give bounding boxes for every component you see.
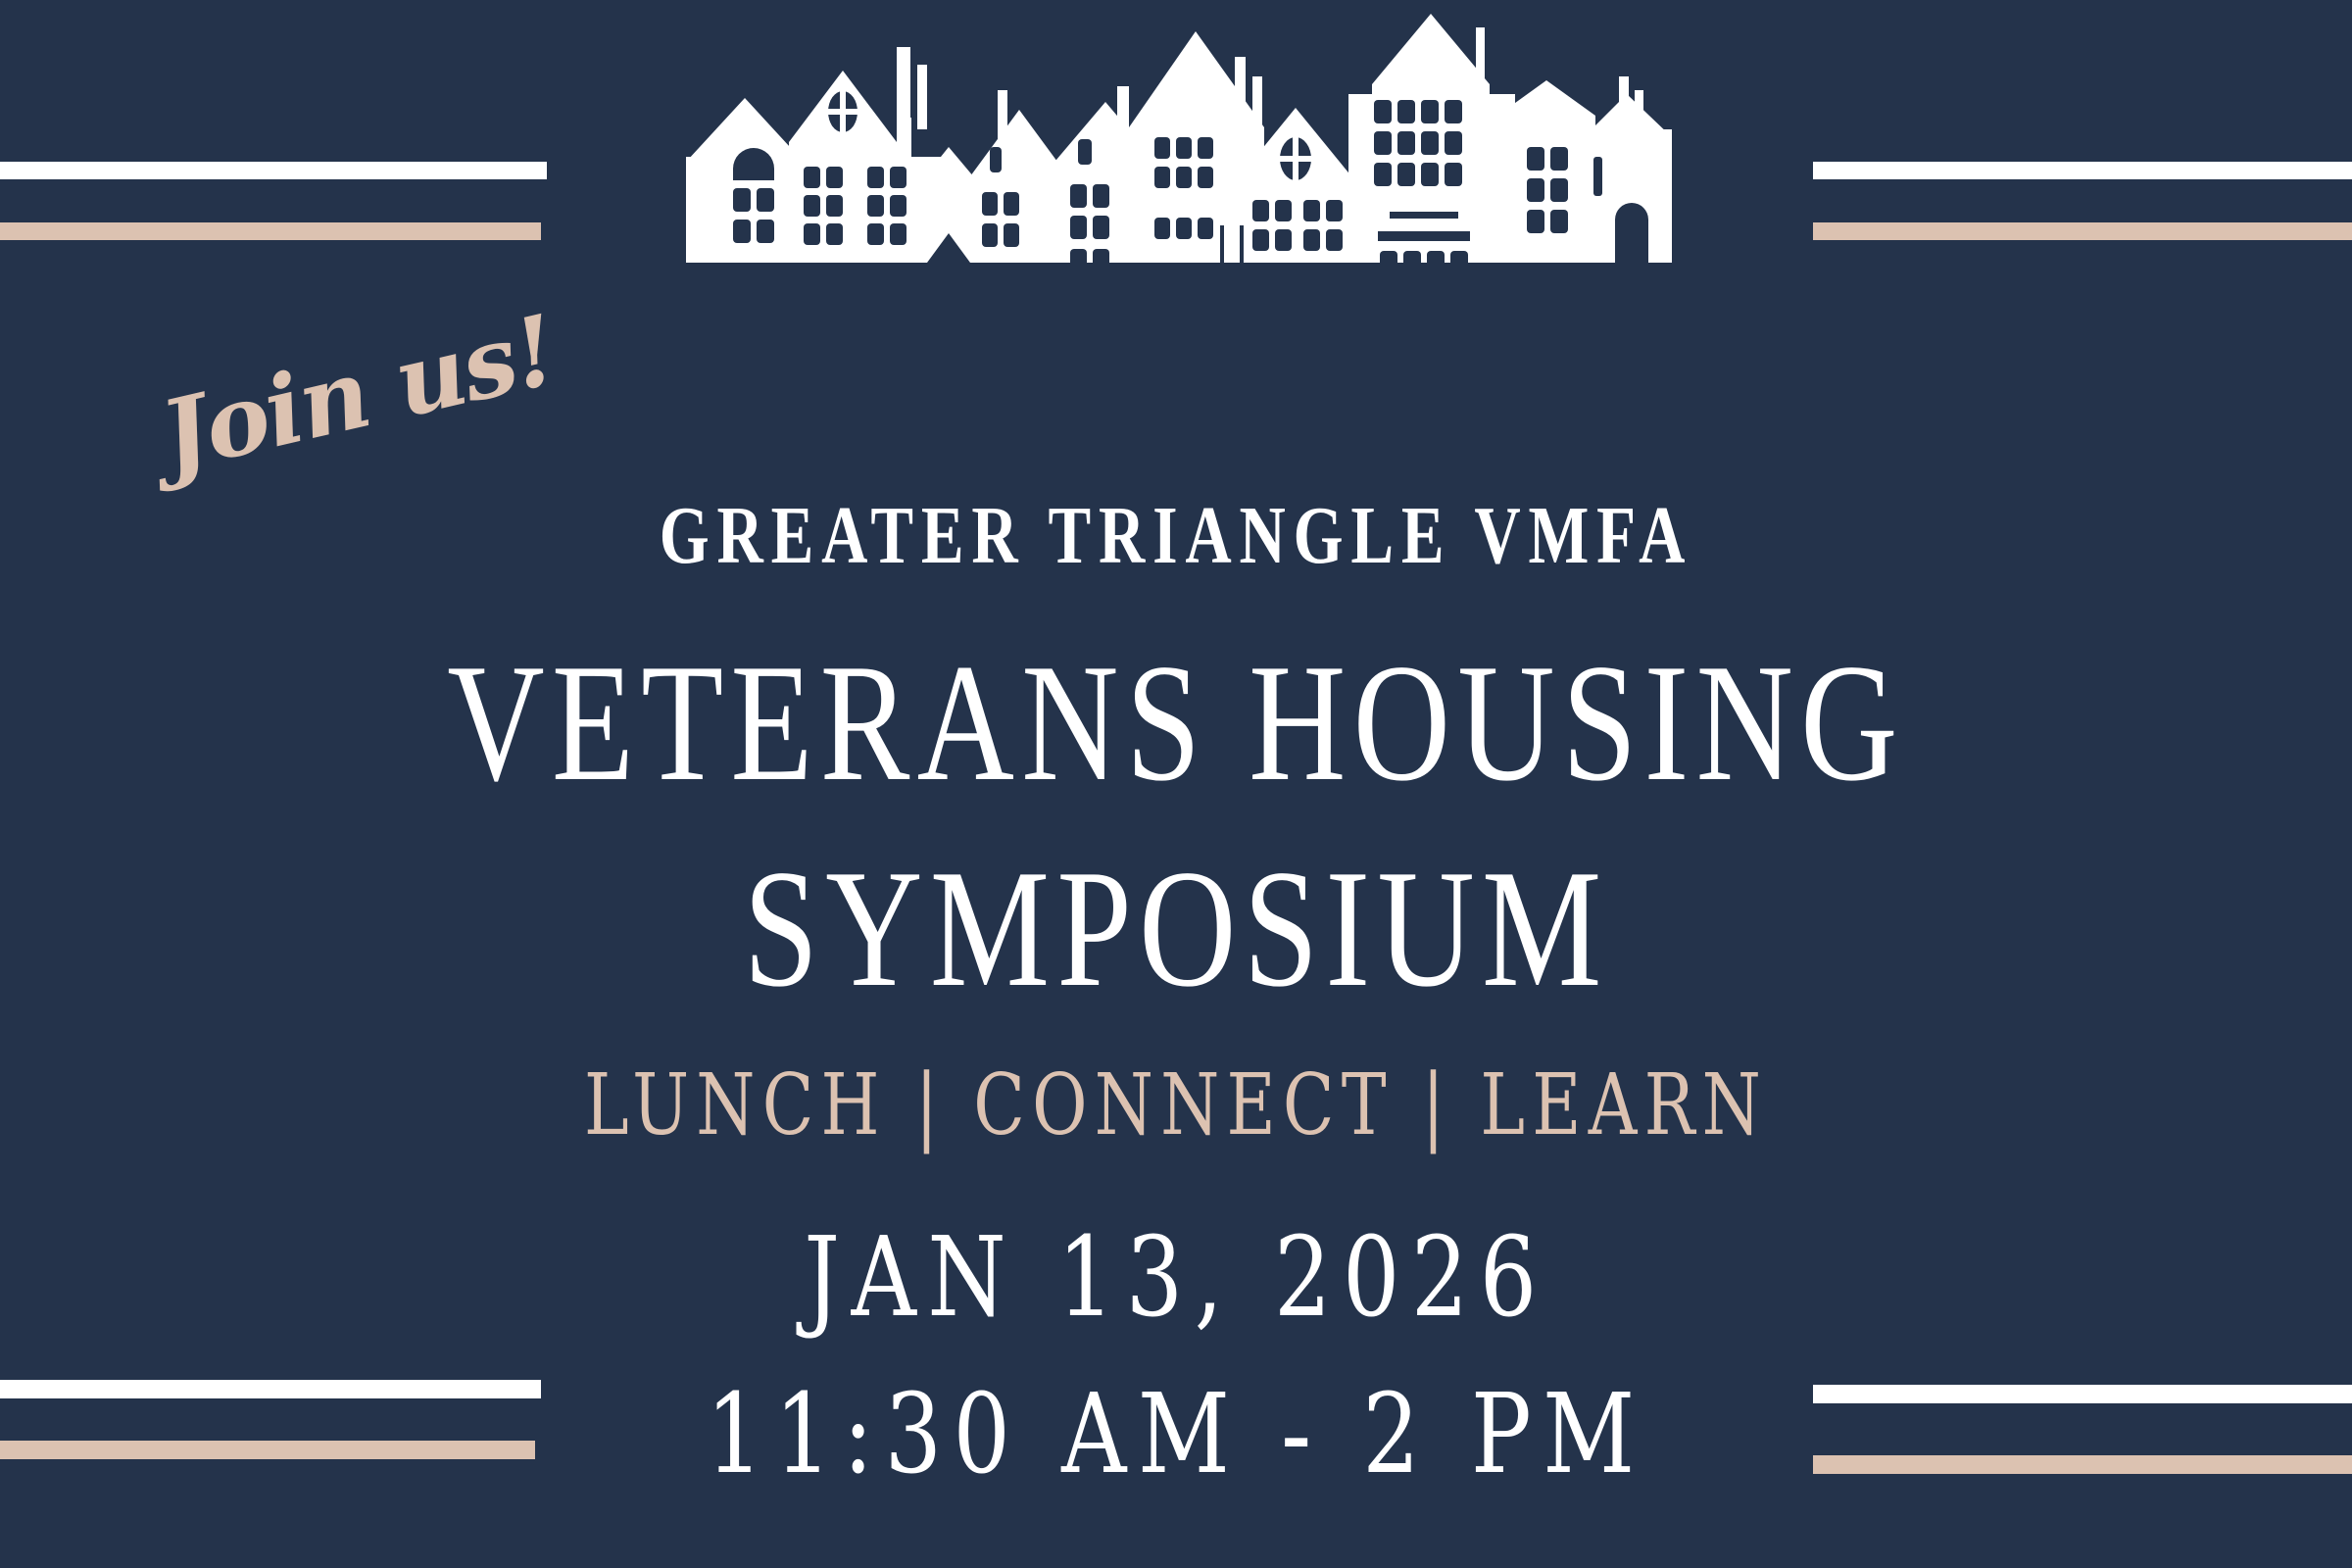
houses-skyline-icon (686, 0, 1695, 263)
tagline: LUNCH | CONNECT | LEARN (235, 1063, 2117, 1148)
top-right-white-rule (1813, 162, 2352, 179)
top-left-tan-rule (0, 222, 541, 240)
event-date: JAN 13, 2026 (212, 1223, 2140, 1333)
top-right-tan-rule (1813, 222, 2352, 240)
event-time: 11:30 AM - 2 PM (212, 1380, 2140, 1490)
flyer-canvas: Join us! GREATER TRIANGLE VMFA VETERANS … (0, 0, 2352, 1568)
page-title-line-2: SYMPOSIUM (235, 845, 2117, 1013)
join-us-script: Join us! (153, 282, 652, 486)
top-left-white-rule (0, 162, 547, 179)
organization-name: GREATER TRIANGLE VMFA (259, 495, 2093, 577)
page-title-line-1: VETERANS HOUSING (235, 639, 2117, 808)
